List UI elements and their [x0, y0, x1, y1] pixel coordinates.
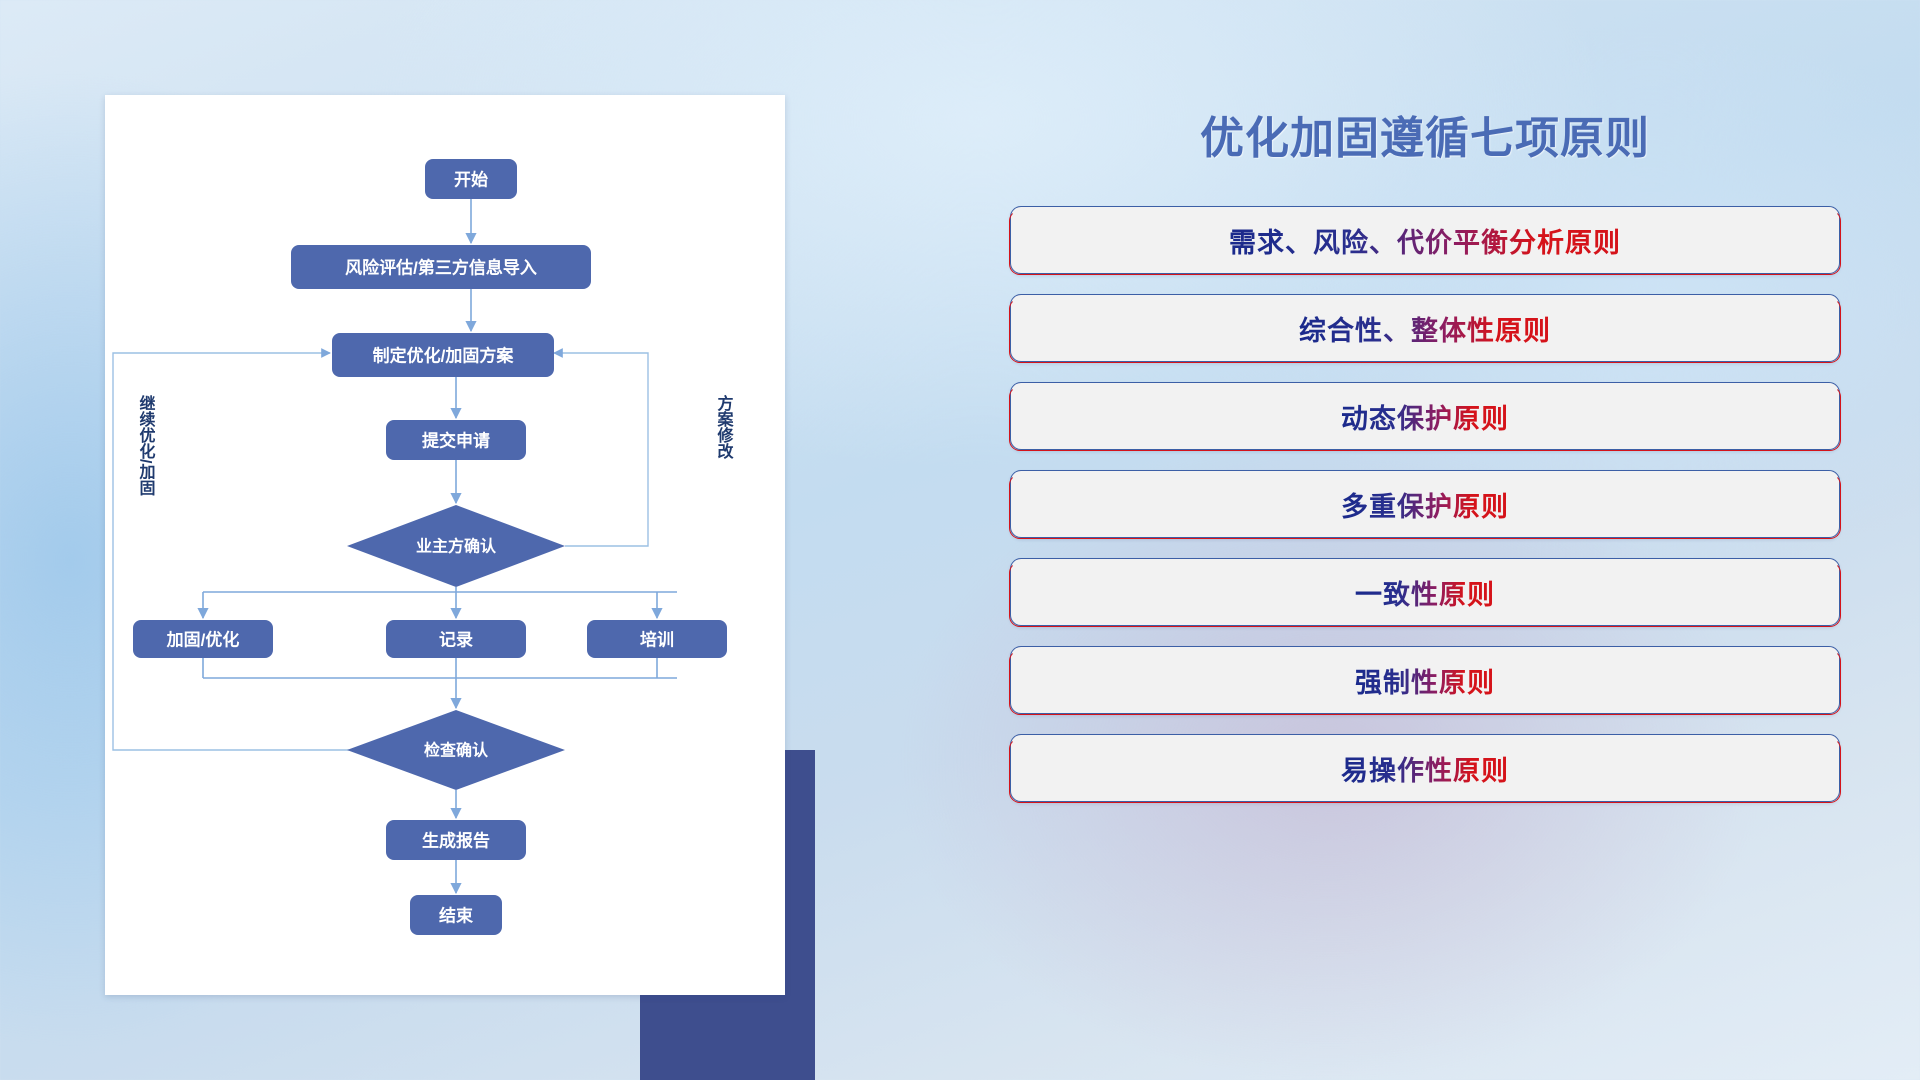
principle-card[interactable]: 强制性原则 [1010, 646, 1840, 714]
flow-node-start[interactable]: 开始 [425, 159, 517, 199]
principle-card[interactable]: 一致性原则 [1010, 558, 1840, 626]
edge-label-plan-revision: 方案修改 [715, 394, 735, 460]
flow-node-record-label: 记录 [439, 631, 473, 650]
flowchart-svg: 开始 风险评估/第三方信息导入 制定优化/加固方案 提交申请 [105, 95, 785, 995]
flow-node-owner-confirm[interactable]: 业主方确认 [347, 505, 565, 587]
flow-node-plan[interactable]: 制定优化/加固方案 [332, 333, 554, 377]
flow-node-risk-assessment-label: 风险评估/第三方信息导入 [345, 258, 537, 278]
flow-node-submit-label: 提交申请 [422, 431, 490, 451]
page-title: 优化加固遵循七项原则 [1010, 102, 1840, 166]
principles-panel: 优化加固遵循七项原则 需求、风险、代价平衡分析原则 综合性、整体性原则 动态保护… [1010, 80, 1840, 1010]
principle-card[interactable]: 多重保护原则 [1010, 470, 1840, 538]
principle-card-label: 综合性、整体性原则 [1299, 309, 1551, 348]
flow-node-report[interactable]: 生成报告 [386, 820, 526, 860]
principle-card[interactable]: 动态保护原则 [1010, 382, 1840, 450]
flow-node-plan-label: 制定优化/加固方案 [373, 346, 515, 366]
flow-node-submit[interactable]: 提交申请 [386, 420, 526, 460]
principle-card-label: 需求、风险、代价平衡分析原则 [1229, 221, 1621, 260]
flow-node-owner-confirm-label: 业主方确认 [416, 537, 497, 556]
flowchart-nodes: 开始 风险评估/第三方信息导入 制定优化/加固方案 提交申请 [133, 159, 727, 935]
flow-node-reinforce[interactable]: 加固/优化 [133, 620, 273, 658]
principle-card[interactable]: 易操作性原则 [1010, 734, 1840, 802]
principle-card[interactable]: 综合性、整体性原则 [1010, 294, 1840, 362]
principle-card-label: 强制性原则 [1355, 661, 1495, 700]
principle-card[interactable]: 需求、风险、代价平衡分析原则 [1010, 206, 1840, 274]
flowchart-card: 开始 风险评估/第三方信息导入 制定优化/加固方案 提交申请 [105, 95, 785, 995]
principle-card-label: 一致性原则 [1355, 573, 1495, 612]
flowchart-panel: 开始 风险评估/第三方信息导入 制定优化/加固方案 提交申请 [105, 95, 780, 995]
principle-card-label: 动态保护原则 [1341, 397, 1509, 436]
principles-card-list: 需求、风险、代价平衡分析原则 综合性、整体性原则 动态保护原则 多重保护原则 一… [1010, 206, 1840, 802]
flow-node-check-confirm[interactable]: 检查确认 [347, 710, 565, 790]
flow-node-training[interactable]: 培训 [587, 620, 727, 658]
edge-label-continue-optimize: 继续优化/加固 [137, 394, 157, 496]
flow-node-start-label: 开始 [454, 170, 488, 190]
flow-node-end[interactable]: 结束 [410, 895, 502, 935]
flow-node-end-label: 结束 [439, 906, 473, 926]
flow-node-reinforce-label: 加固/优化 [166, 630, 240, 650]
flow-node-record[interactable]: 记录 [386, 620, 526, 658]
flow-node-training-label: 培训 [640, 630, 674, 650]
flow-node-risk-assessment[interactable]: 风险评估/第三方信息导入 [291, 245, 591, 289]
principle-card-label: 多重保护原则 [1341, 485, 1509, 524]
flow-node-report-label: 生成报告 [422, 831, 490, 851]
flow-node-check-confirm-label: 检查确认 [424, 741, 489, 760]
principle-card-label: 易操作性原则 [1341, 749, 1509, 788]
